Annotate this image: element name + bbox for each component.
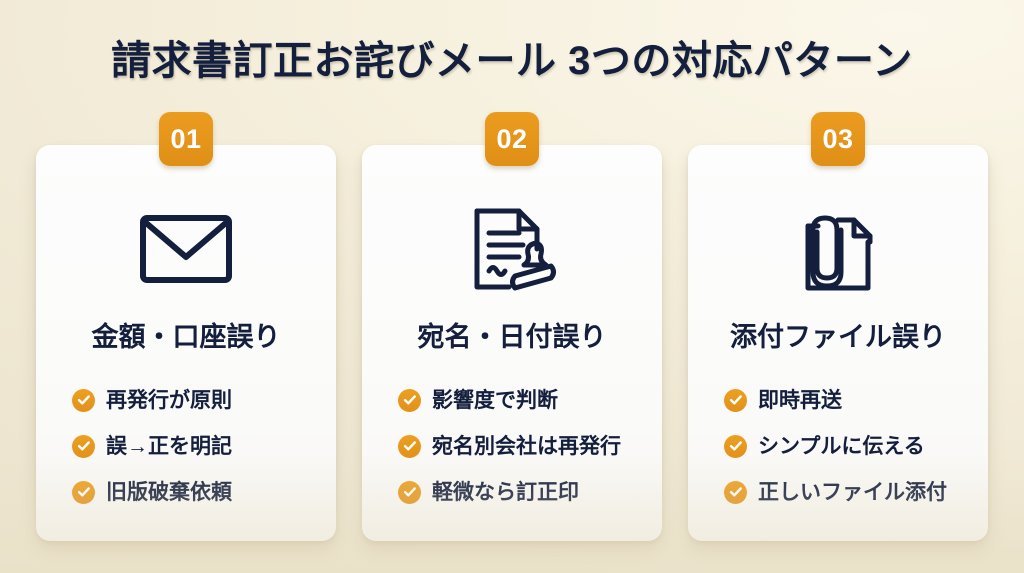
card-title: 宛名・日付誤り	[362, 315, 662, 354]
list-item: 再発行が原則	[72, 377, 318, 423]
card-title: 金額・口座誤り	[36, 315, 336, 354]
card-title: 添付ファイル誤り	[688, 315, 988, 354]
card-number-badge: 01	[159, 112, 213, 166]
check-circle-icon	[72, 481, 95, 504]
list-item-label: 誤→正を明記	[106, 436, 232, 457]
check-circle-icon	[724, 389, 747, 412]
list-item: 正しいファイル添付	[724, 469, 970, 515]
check-circle-icon	[724, 481, 747, 504]
list-item-label: 旧版破棄依頼	[106, 482, 232, 503]
list-item-label: 宛名別会社は再発行	[432, 436, 621, 457]
list-item: シンプルに伝える	[724, 423, 970, 469]
card-list: 01 金額・口座誤り 再発行が原則	[36, 145, 988, 541]
list-item-label: 軽微なら訂正印	[432, 482, 579, 503]
bullet-list: 再発行が原則 誤→正を明記 旧版破棄依頼	[72, 377, 318, 515]
bullet-list: 影響度で判断 宛名別会社は再発行 軽微なら訂正印	[398, 377, 644, 515]
envelope-icon	[36, 197, 336, 301]
pattern-card-3: 03 添付ファイル誤り 即時再送	[688, 145, 988, 541]
list-item-label: 正しいファイル添付	[758, 482, 947, 503]
check-circle-icon	[72, 435, 95, 458]
pattern-card-2: 02 宛名・日付誤り	[362, 145, 662, 541]
check-circle-icon	[72, 389, 95, 412]
list-item: 宛名別会社は再発行	[398, 423, 644, 469]
list-item: 旧版破棄依頼	[72, 469, 318, 515]
card-number-badge: 03	[811, 112, 865, 166]
paperclip-document-icon	[688, 197, 988, 301]
list-item-label: シンプルに伝える	[758, 436, 925, 457]
infographic-poster: 請求書訂正お詫びメール 3つの対応パターン 01 金額・口座誤り 再発行が原則	[0, 0, 1024, 573]
list-item: 影響度で判断	[398, 377, 644, 423]
list-item-label: 再発行が原則	[106, 390, 232, 411]
document-stamp-icon	[362, 197, 662, 301]
check-circle-icon	[398, 435, 421, 458]
card-number-badge: 02	[485, 112, 539, 166]
check-circle-icon	[724, 435, 747, 458]
check-circle-icon	[398, 389, 421, 412]
list-item: 即時再送	[724, 377, 970, 423]
list-item-label: 影響度で判断	[432, 390, 558, 411]
check-circle-icon	[398, 481, 421, 504]
pattern-card-1: 01 金額・口座誤り 再発行が原則	[36, 145, 336, 541]
list-item: 軽微なら訂正印	[398, 469, 644, 515]
bullet-list: 即時再送 シンプルに伝える 正しいファイル添付	[724, 377, 970, 515]
list-item-label: 即時再送	[758, 390, 842, 411]
page-title: 請求書訂正お詫びメール 3つの対応パターン	[0, 28, 1024, 86]
list-item: 誤→正を明記	[72, 423, 318, 469]
